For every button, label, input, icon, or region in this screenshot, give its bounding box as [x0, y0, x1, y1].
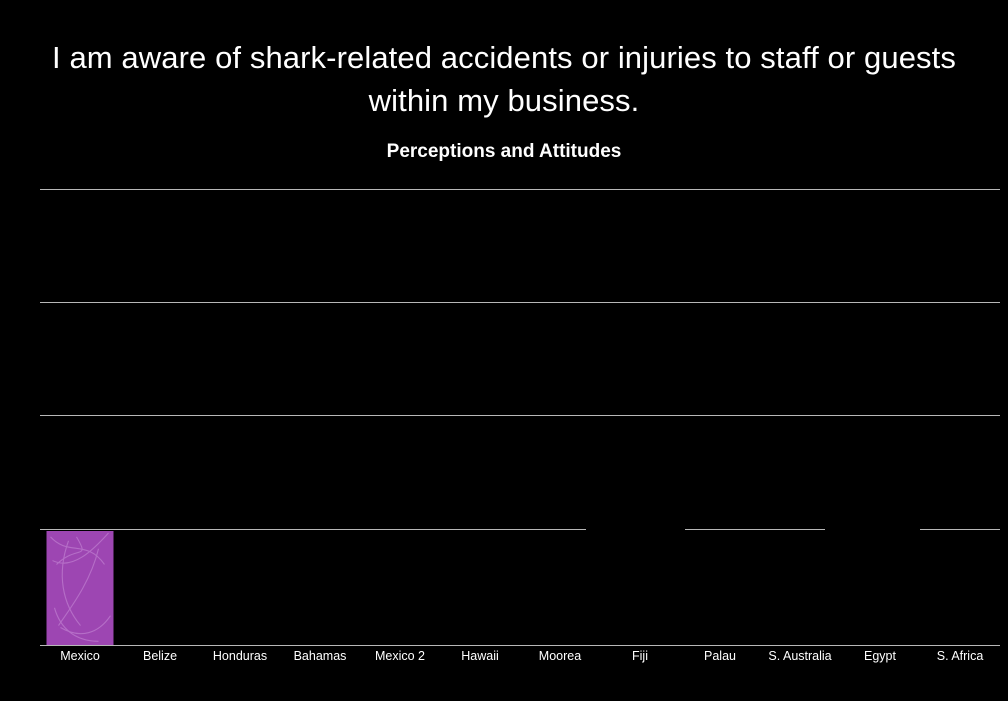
- bar-series: [40, 189, 1000, 646]
- bar-slot: [680, 189, 760, 645]
- x-axis-tick-label: Palau: [704, 647, 736, 665]
- chart-page: I am aware of shark-related accidents or…: [0, 0, 1008, 701]
- bar-slot: [40, 189, 120, 645]
- bar-slot: [520, 189, 600, 645]
- plot-area: [40, 189, 1000, 646]
- x-axis-tick-label: Hawaii: [461, 647, 499, 665]
- x-axis-labels: MexicoBelizeHondurasBahamasMexico 2Hawai…: [40, 647, 1000, 669]
- x-axis-tick-label: Fiji: [632, 647, 648, 665]
- bar-slot: [200, 189, 280, 645]
- x-axis-tick-label: Honduras: [213, 647, 267, 665]
- x-axis-tick-label: Belize: [143, 647, 177, 665]
- bar-slot: [600, 189, 680, 645]
- bar-slot: [760, 189, 840, 645]
- title-block: I am aware of shark-related accidents or…: [40, 36, 968, 164]
- x-axis-tick-label: Egypt: [864, 647, 896, 665]
- page-title: I am aware of shark-related accidents or…: [40, 36, 968, 122]
- x-axis-tick-label: Moorea: [539, 647, 581, 665]
- x-axis-tick-label: Bahamas: [294, 647, 347, 665]
- bar-mexico[interactable]: [47, 531, 114, 645]
- x-axis-tick-label: Mexico: [60, 647, 100, 665]
- x-axis-tick-label: Mexico 2: [375, 647, 425, 665]
- bar-slot: [120, 189, 200, 645]
- bar-slot: [360, 189, 440, 645]
- bar-slot: [840, 189, 920, 645]
- bar-slot: [280, 189, 360, 645]
- bar-slot: [440, 189, 520, 645]
- chart-subtitle: Perceptions and Attitudes: [40, 122, 968, 164]
- bar-slot: [920, 189, 1000, 645]
- x-axis-tick-label: S. Australia: [768, 647, 831, 665]
- x-axis-tick-label: S. Africa: [937, 647, 984, 665]
